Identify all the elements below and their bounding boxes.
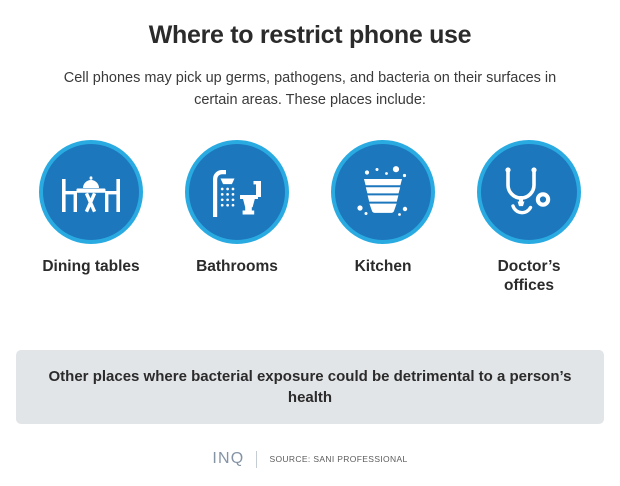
places-icon-row: Dining tables — [0, 140, 620, 296]
place-label-dining-tables: Dining tables — [42, 258, 139, 277]
page-title: Where to restrict phone use — [0, 22, 620, 50]
shower-toilet-icon — [209, 165, 265, 219]
page-subtitle: Cell phones may pick up germs, pathogens… — [0, 68, 620, 112]
place-label-doctors-offices: Doctor’s offices — [474, 258, 584, 296]
place-label-bathrooms: Bathrooms — [196, 258, 278, 277]
stacked-dishes-icon — [353, 165, 413, 219]
place-item-dining-tables: Dining tables — [31, 140, 151, 277]
place-label-kitchen: Kitchen — [355, 258, 412, 277]
inq-logo: INQ — [212, 450, 244, 468]
place-icon-circle-kitchen — [331, 140, 435, 244]
place-icon-circle-bathrooms — [185, 140, 289, 244]
stethoscope-icon — [500, 165, 558, 219]
callout-box: Other places where bacterial exposure co… — [16, 350, 604, 424]
infographic-root: Where to restrict phone use Cell phones … — [0, 0, 620, 486]
footer-divider — [256, 451, 257, 468]
place-item-kitchen: Kitchen — [323, 140, 443, 277]
dining-table-icon — [60, 167, 122, 217]
callout-text: Other places where bacterial exposure co… — [42, 366, 578, 409]
source-attribution: SOURCE: SANI PROFESSIONAL — [269, 454, 407, 464]
place-item-doctors-offices: Doctor’s offices — [469, 140, 589, 296]
footer: INQ SOURCE: SANI PROFESSIONAL — [0, 450, 620, 468]
place-icon-circle-doctors-offices — [477, 140, 581, 244]
place-icon-circle-dining-tables — [39, 140, 143, 244]
place-item-bathrooms: Bathrooms — [177, 140, 297, 277]
